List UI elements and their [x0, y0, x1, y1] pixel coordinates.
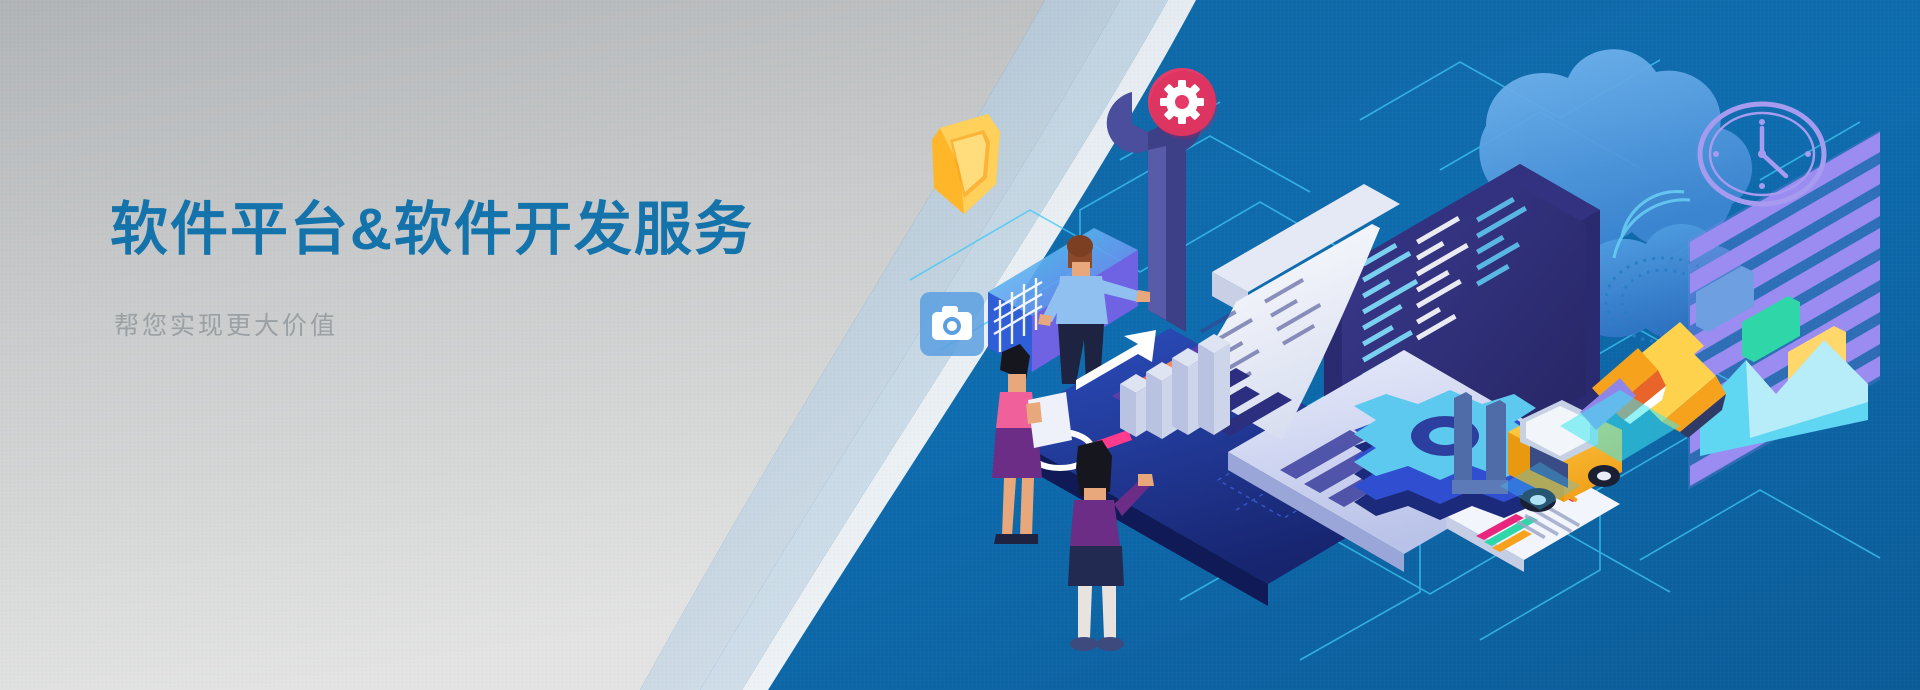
banner-copy: 软件平台&软件开发服务 帮您实现更大价值 [110, 196, 870, 342]
shield-icon [932, 114, 1000, 214]
isometric-illustration [880, 0, 1920, 690]
hero-banner: 软件平台&软件开发服务 帮您实现更大价值 [0, 0, 1920, 690]
page-subtitle: 帮您实现更大价值 [114, 306, 870, 342]
page-title: 软件平台&软件开发服务 [110, 196, 870, 264]
camera-icon [920, 292, 984, 356]
clock-icon [1700, 104, 1824, 204]
